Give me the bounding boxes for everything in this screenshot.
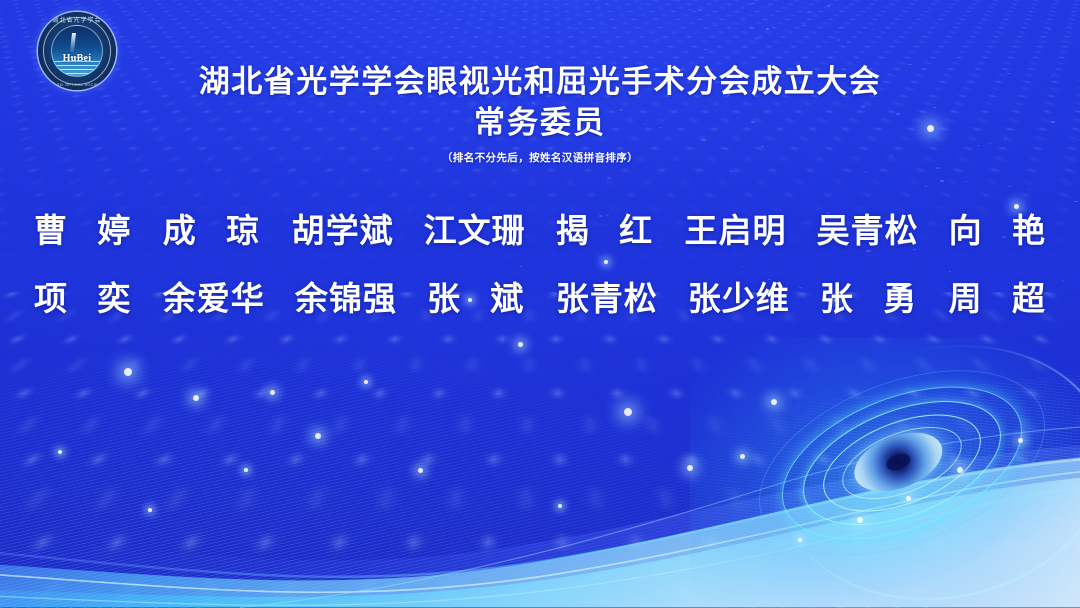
committee-name-list: 曹婷成琼胡学斌江文珊揭红王启明吴青松向艳项奕余爱华余锦强张斌张青松张少维张勇周超 [34,212,1046,348]
name-row: 项奕余爱华余锦强张斌张青松张少维张勇周超 [34,280,1046,318]
eye-glow-halo [690,338,1080,608]
flowing-wave-decoration [0,340,1080,608]
committee-member-name: 周超 [949,280,1046,318]
committee-member-name: 张勇 [820,280,917,318]
ordering-note: （排名不分先后，按姓名汉语拼音排序） [0,150,1080,165]
committee-member-name: 张青松 [556,280,657,318]
page-title: 湖北省光学学会眼视光和屈光手术分会成立大会 [0,64,1080,102]
committee-member-name: 余爱华 [163,280,264,318]
committee-member-name: 胡学斌 [292,212,393,250]
committee-member-name: 张斌 [427,280,524,318]
committee-member-name: 张少维 [688,280,789,318]
committee-member-name: 揭红 [556,212,653,250]
line-mesh-texture-right [509,370,1080,608]
committee-member-name: 向艳 [949,212,1046,250]
iris-icon [846,421,951,503]
swoosh-arc-decoration [758,316,1080,608]
presentation-slide: 湖北省光学学会 HuBei HUBEI OPTICAL SOCIETY 湖北省光… [0,0,1080,608]
logo-center-text: HuBei [38,53,116,64]
page-subtitle: 常务委员 [0,104,1080,143]
committee-member-name: 吴青松 [817,212,918,250]
eye-galaxy-icon [752,355,1052,570]
committee-member-name: 曹婷 [34,212,131,250]
committee-member-name: 江文珊 [424,212,525,250]
slide-header: 湖北省光学学会眼视光和屈光手术分会成立大会 常务委员 （排名不分先后，按姓名汉语… [0,64,1080,165]
committee-member-name: 王启明 [685,212,786,250]
committee-member-name: 成琼 [163,212,260,250]
committee-member-name: 项奕 [34,280,131,318]
name-row: 曹婷成琼胡学斌江文珊揭红王启明吴青松向艳 [34,212,1046,250]
logo-arc-top-text: 湖北省光学学会 [38,15,116,24]
committee-member-name: 余锦强 [295,280,396,318]
